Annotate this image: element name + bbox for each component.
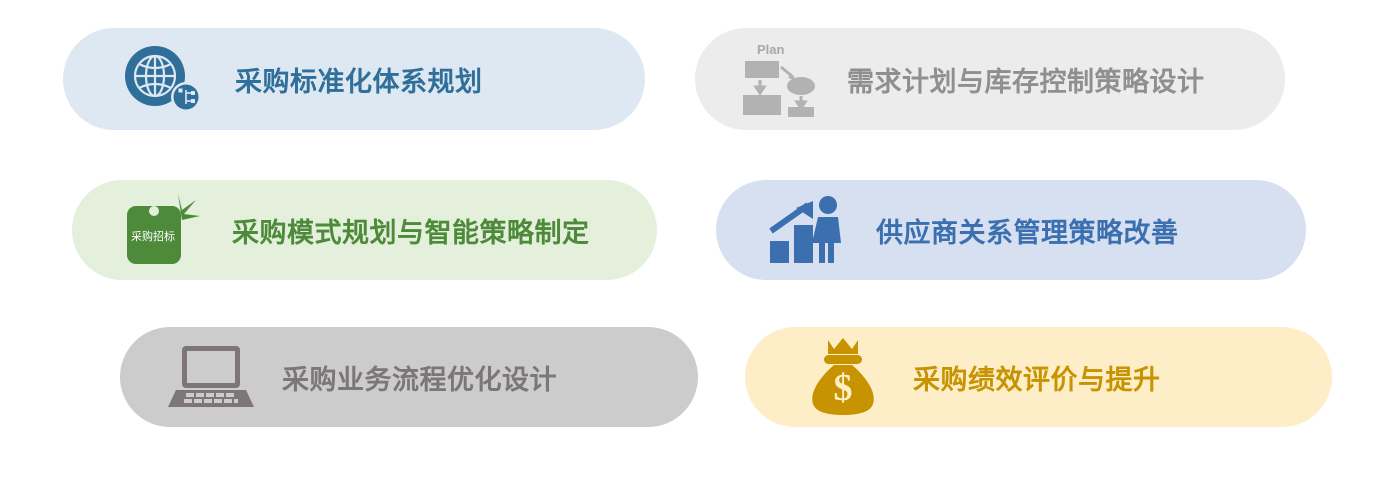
diagram-board: 采购标准化体系规划 Plan 需求计划与库存控制策略设计: [0, 0, 1382, 490]
pill-process-optimization-design[interactable]: 采购业务流程优化设计: [120, 327, 698, 427]
pill-performance-evaluation[interactable]: $ 采购绩效评价与提升: [745, 327, 1332, 427]
plan-caption: Plan: [757, 42, 785, 57]
globe-network-icon: [115, 43, 211, 115]
bidding-tag-icon: 采购招标: [122, 190, 210, 270]
money-bag-symbol: $: [834, 367, 853, 409]
pill-label: 需求计划与库存控制策略设计: [847, 60, 1205, 99]
pill-supplier-relationship-management[interactable]: 供应商关系管理策略改善: [716, 180, 1306, 280]
pill-demand-plan-inventory-control[interactable]: Plan 需求计划与库存控制策略设计: [695, 28, 1285, 130]
bidding-tag-caption: 采购招标: [131, 229, 175, 243]
pill-label: 采购绩效评价与提升: [913, 358, 1161, 397]
pill-procurement-mode-strategy[interactable]: 采购招标 采购模式规划与智能策略制定: [72, 180, 657, 280]
pill-label: 采购模式规划与智能策略制定: [232, 211, 590, 250]
money-bag-icon: $: [803, 336, 883, 418]
pill-procurement-standardization[interactable]: 采购标准化体系规划: [63, 28, 645, 130]
pill-label: 供应商关系管理策略改善: [876, 211, 1179, 250]
flowchart-plan-icon: Plan: [739, 41, 825, 117]
pill-label: 采购标准化体系规划: [235, 60, 483, 99]
growth-chart-person-icon: [766, 193, 848, 267]
pill-label: 采购业务流程优化设计: [282, 358, 557, 397]
laptop-icon: [164, 342, 256, 412]
